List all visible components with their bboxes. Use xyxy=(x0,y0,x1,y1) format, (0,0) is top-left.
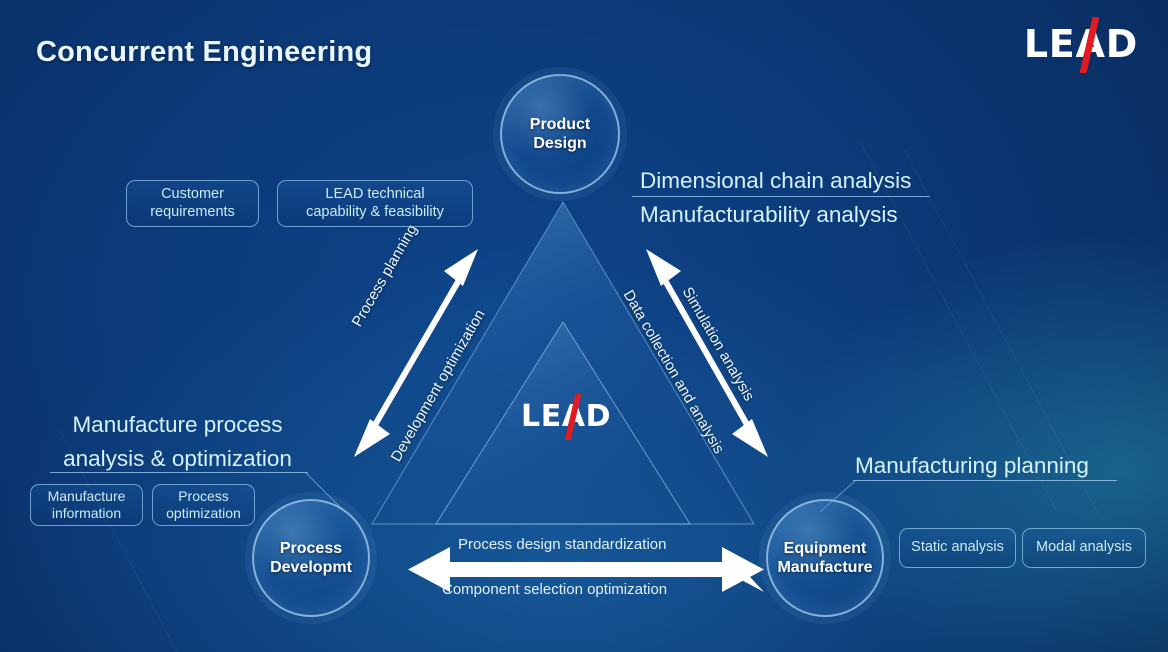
pill-text: LEAD technical capability & feasibility xyxy=(306,186,444,220)
heading-line-manufacturability: Manufacturability analysis xyxy=(640,198,940,232)
pill-manufacture-information[interactable]: Manufacture information xyxy=(30,484,143,526)
arrow-label-process-design-standardization: Process design standardization xyxy=(458,536,666,553)
slide-canvas: Concurrent Engineering LEAD LEAD xyxy=(0,0,1168,652)
heading-line-dimensional-chain: Dimensional chain analysis xyxy=(640,164,940,198)
lead-logo-text: LEAD xyxy=(1024,22,1138,66)
pill-customer-requirements[interactable]: Customer requirements xyxy=(126,180,259,227)
node-line-1: Equipment xyxy=(784,540,867,557)
pill-line-1: LEAD technical xyxy=(325,186,424,202)
pill-text: Customer requirements xyxy=(150,186,235,220)
pill-text: Process optimization xyxy=(166,488,241,521)
node-line-2: Developmt xyxy=(270,559,352,576)
node-label: Process Developmt xyxy=(270,539,352,577)
pill-line-1: Modal analysis xyxy=(1036,539,1132,556)
page-title: Concurrent Engineering xyxy=(36,36,372,69)
node-product-design[interactable]: Product Design xyxy=(500,74,620,194)
arrow-label-component-selection-optimization: Component selection optimization xyxy=(442,581,667,598)
heading-rule xyxy=(853,480,1117,481)
pill-text: Manufacture information xyxy=(48,488,126,521)
node-line-2: Manufacture xyxy=(777,559,872,576)
heading-line-analysis-optimization: analysis & optimization xyxy=(40,442,315,476)
pill-line-1: Process xyxy=(178,488,229,504)
lead-center-logo: LEAD xyxy=(521,402,611,432)
heading-product-design-analyses: Dimensional chain analysis Manufacturabi… xyxy=(640,164,940,232)
heading-line-manufacturing-planning: Manufacturing planning xyxy=(855,449,1125,483)
heading-manufacture-process: Manufacture process analysis & optimizat… xyxy=(40,408,315,476)
node-line-2: Design xyxy=(533,135,586,152)
heading-rule xyxy=(50,472,308,473)
pill-line-2: capability & feasibility xyxy=(306,204,444,220)
pill-lead-technical-capability[interactable]: LEAD technical capability & feasibility xyxy=(277,180,473,227)
pill-line-1: Static analysis xyxy=(911,539,1004,556)
heading-manufacturing-planning: Manufacturing planning xyxy=(855,449,1125,483)
pill-modal-analysis[interactable]: Modal analysis xyxy=(1022,528,1146,568)
node-label: Product Design xyxy=(530,115,590,153)
node-equipment-manufacture[interactable]: Equipment Manufacture xyxy=(766,499,884,617)
heading-rule xyxy=(632,196,930,197)
pill-static-analysis[interactable]: Static analysis xyxy=(899,528,1016,568)
node-label: Equipment Manufacture xyxy=(777,539,872,577)
pill-line-2: optimization xyxy=(166,505,241,521)
node-line-1: Product xyxy=(530,116,590,133)
pill-line-2: requirements xyxy=(150,204,235,220)
node-process-development[interactable]: Process Developmt xyxy=(252,499,370,617)
pill-process-optimization[interactable]: Process optimization xyxy=(152,484,255,526)
node-line-1: Process xyxy=(280,540,342,557)
pill-line-1: Manufacture xyxy=(48,488,126,504)
pill-line-1: Customer xyxy=(161,186,224,202)
heading-line-manufacture-process: Manufacture process xyxy=(40,408,315,442)
pill-line-2: information xyxy=(52,505,121,521)
lead-brand-logo: LEAD xyxy=(1024,25,1138,63)
